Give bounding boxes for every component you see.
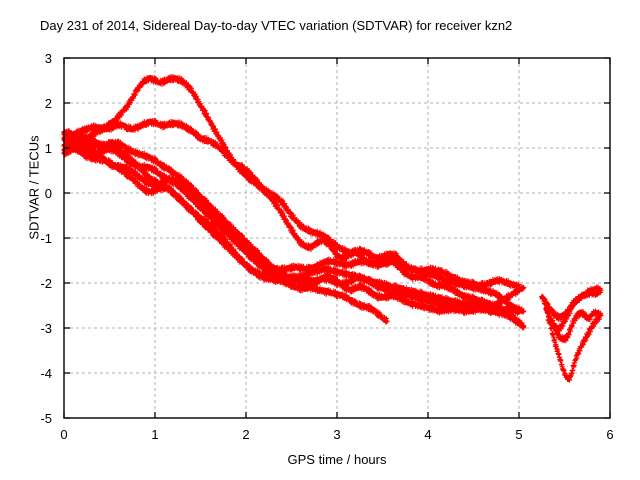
y-tick-label: 2 <box>12 97 52 110</box>
x-tick-label: 4 <box>413 428 443 441</box>
y-tick-label: -3 <box>12 322 52 335</box>
x-tick-label: 5 <box>504 428 534 441</box>
y-tick-label: 0 <box>12 187 52 200</box>
data-series-group <box>61 74 603 383</box>
x-tick-label: 1 <box>140 428 170 441</box>
x-tick-label: 3 <box>322 428 352 441</box>
y-tick-label: 1 <box>12 142 52 155</box>
marker-path <box>61 74 526 331</box>
y-tick-label: -2 <box>12 277 52 290</box>
chart-figure: Day 231 of 2014, Sidereal Day-to-day VTE… <box>0 0 640 480</box>
y-tick-label: -5 <box>12 412 52 425</box>
x-tick-label: 2 <box>231 428 261 441</box>
data-series <box>61 74 526 331</box>
y-tick-label: 3 <box>12 52 52 65</box>
y-tick-label: -1 <box>12 232 52 245</box>
x-tick-label: 6 <box>595 428 625 441</box>
x-tick-label: 0 <box>49 428 79 441</box>
y-tick-label: -4 <box>12 367 52 380</box>
plot-canvas <box>0 0 640 480</box>
gridlines <box>64 58 610 418</box>
